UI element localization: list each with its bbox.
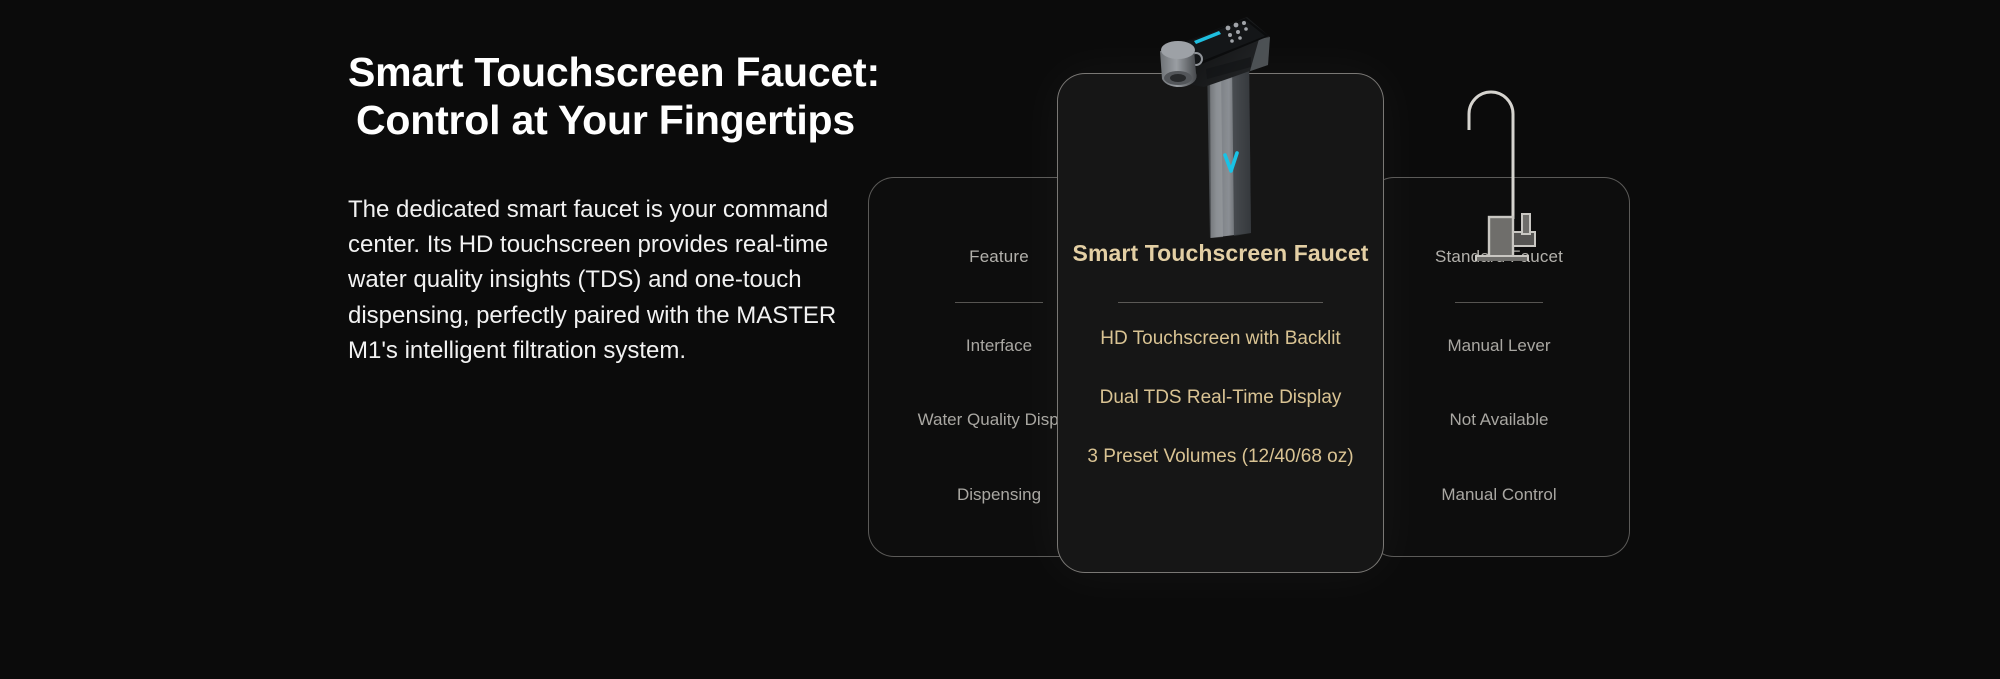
page-root: Smart Touchscreen Faucet: Control at You… <box>0 0 2000 679</box>
column-header-label: Smart Touchscreen Faucet <box>1073 240 1369 267</box>
headline-line-2: Control at Your Fingertips <box>348 96 908 144</box>
row-label: Water Quality Display <box>918 410 1081 430</box>
row-label: Dispensing <box>957 485 1041 505</box>
table-row: Not Available <box>1369 383 1629 457</box>
table-row: Dual TDS Real-Time Display <box>1058 368 1383 427</box>
row-label: Interface <box>966 336 1032 356</box>
hero-copy: Smart Touchscreen Faucet: Control at You… <box>348 48 908 368</box>
column-header-smart-faucet: Smart Touchscreen Faucet <box>1058 74 1383 303</box>
page-title: Smart Touchscreen Faucet: Control at You… <box>348 48 908 145</box>
table-row: Manual Lever <box>1369 309 1629 383</box>
comparison-table: Feature Interface Water Quality Display … <box>850 0 2000 679</box>
column-header-label: Feature <box>969 247 1029 267</box>
row-value: Dual TDS Real-Time Display <box>1100 387 1342 409</box>
column-rows: Manual Lever Not Available Manual Contro… <box>1369 303 1629 556</box>
table-row: 3 Preset Volumes (12/40/68 oz) <box>1058 427 1383 486</box>
row-value: HD Touchscreen with Backlit <box>1100 328 1340 350</box>
column-rows: HD Touchscreen with Backlit Dual TDS Rea… <box>1058 303 1383 572</box>
row-value: Not Available <box>1450 410 1549 430</box>
hero-paragraph: The dedicated smart faucet is your comma… <box>348 192 860 368</box>
table-row: HD Touchscreen with Backlit <box>1058 309 1383 368</box>
row-value: Manual Control <box>1441 485 1556 505</box>
comparison-column-smart-faucet[interactable]: Smart Touchscreen Faucet HD Touchscreen … <box>1057 73 1384 573</box>
headline-line-1: Smart Touchscreen Faucet: <box>348 49 880 95</box>
table-row: Manual Control <box>1369 458 1629 532</box>
gooseneck-faucet-icon <box>1416 86 1582 261</box>
row-value: 3 Preset Volumes (12/40/68 oz) <box>1087 446 1353 468</box>
row-value: Manual Lever <box>1447 336 1550 356</box>
